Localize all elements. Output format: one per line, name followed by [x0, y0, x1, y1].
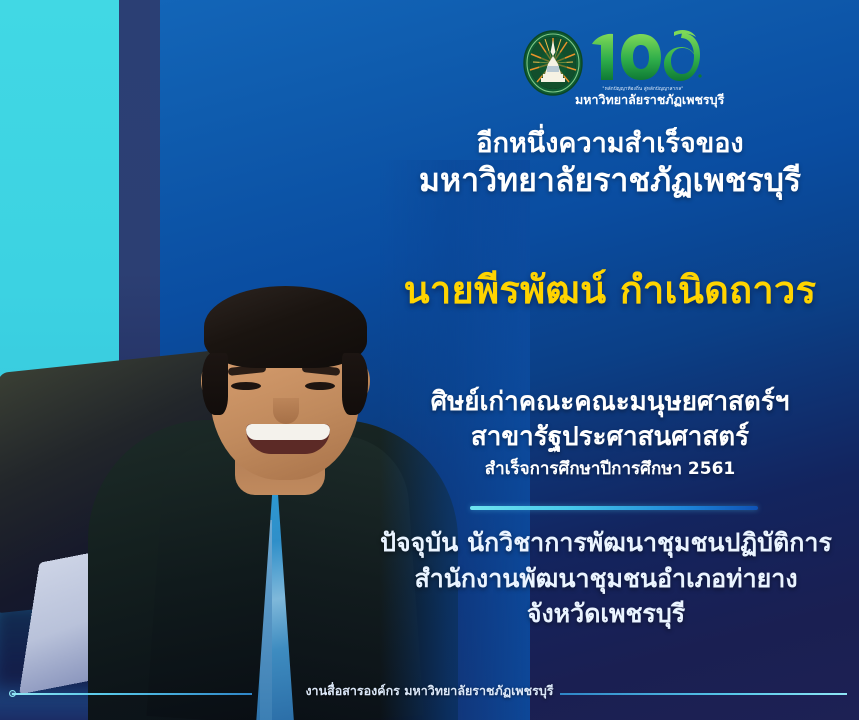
education-graduation-year: สำเร็จการศึกษาปีการศึกษา 2561 [370, 457, 850, 483]
section-divider [470, 506, 758, 510]
logo-university-name: มหาวิทยาลัยราชภัฏเพชรบุรี [575, 90, 707, 110]
current-position-line-1: ปัจจุบัน นักวิชาการพัฒนาชุมชนปฏิบัติการ [356, 525, 856, 561]
header-line-1: อีกหนึ่งความสำเร็จของ [370, 128, 850, 161]
current-position-line-3: จังหวัดเพชรบุรี [356, 596, 856, 632]
person-mouth [246, 424, 330, 454]
person-hair-side-left [202, 353, 228, 415]
education-faculty: ศิษย์เก่าคณะคณะมนุษยศาสตร์ฯ [370, 385, 850, 420]
education-major: สาขารัฐประศาสนศาสตร์ [370, 420, 850, 455]
header-block: อีกหนึ่งความสำเร็จของ มหาวิทยาลัยราชภัฏเ… [370, 128, 850, 200]
header-line-2: มหาวิทยาลัยราชภัฏเพชรบุรี [370, 161, 850, 200]
honoree-name: นายพีรพัฒน์ กำเนิดถาวร [360, 268, 859, 312]
person-eye-left [231, 382, 261, 390]
person-eye-right [305, 382, 335, 390]
person-teeth [246, 424, 330, 440]
current-position-block: ปัจจุบัน นักวิชาการพัฒนาชุมชนปฏิบัติการ … [356, 525, 856, 632]
person-nose [273, 398, 299, 424]
university-seal-icon [523, 30, 583, 96]
congratulation-poster: "หลักปัญญาท้องถิ่น สู่หลักปัญญาสากล" มหา… [0, 0, 859, 720]
person-hair-side-right [342, 353, 368, 415]
100-anniversary-icon [586, 28, 704, 86]
education-block: ศิษย์เก่าคณะคณะมนุษยศาสตร์ฯ สาขารัฐประศา… [370, 385, 850, 482]
pbru-logo-lockup: "หลักปัญญาท้องถิ่น สู่หลักปัญญาสากล" มหา… [523, 28, 703, 108]
footer-credit: งานสื่อสารองค์กร มหาวิทยาลัยราชภัฏเพชรบุ… [0, 681, 859, 701]
honoree-name-block: นายพีรพัฒน์ กำเนิดถาวร [360, 268, 859, 312]
current-position-line-2: สำนักงานพัฒนาชุมชนอำเภอท่ายาง [356, 561, 856, 597]
